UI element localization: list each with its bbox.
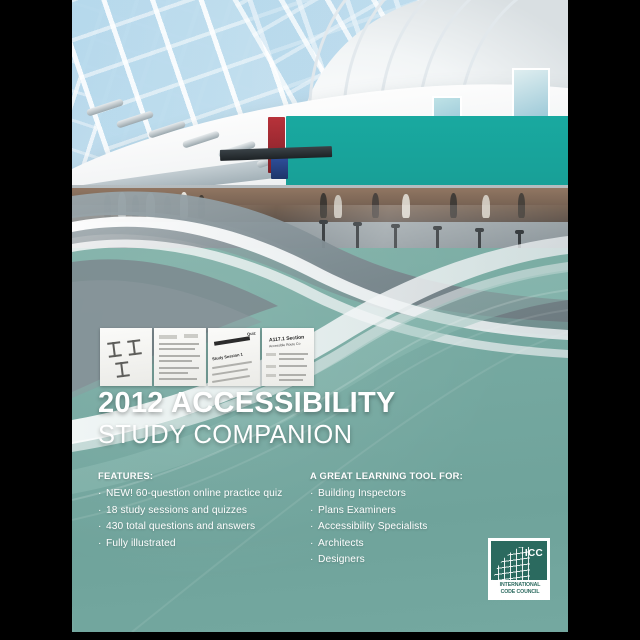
book-cover: Quiz Study Session 1 A117.1 Section Acce… xyxy=(72,0,568,632)
text-line xyxy=(279,374,306,376)
bullet-glyph: · xyxy=(310,536,318,553)
thumbnail-illustration-page[interactable] xyxy=(100,328,152,386)
ibeam-diagram xyxy=(115,361,130,377)
audience-item-label: Accessibility Specialists xyxy=(318,521,428,532)
features-item: ·NEW! 60-question online practice quiz xyxy=(98,486,310,503)
text-block xyxy=(266,365,276,368)
logo-mark: ICC xyxy=(525,548,543,559)
text-line xyxy=(279,353,308,355)
thumbnail-quiz-page[interactable]: Quiz Study Session 1 xyxy=(208,328,260,386)
text-line xyxy=(159,355,200,357)
audience-item-label: Building Inspectors xyxy=(318,488,406,499)
audience-item-label: Architects xyxy=(318,538,364,549)
text-line xyxy=(159,372,188,374)
text-line xyxy=(279,358,304,360)
title-line-2: STUDY COMPANION xyxy=(98,421,538,449)
bullet-glyph: · xyxy=(310,519,318,536)
features-item-label: NEW! 60-question online practice quiz xyxy=(106,488,282,499)
ibeam-diagram xyxy=(127,339,142,355)
text-line xyxy=(159,348,195,350)
cover-title: 2012 ACCESSIBILITY STUDY COMPANION xyxy=(98,388,538,449)
audience-item-label: Designers xyxy=(318,554,365,565)
features-column: FEATURES: ·NEW! 60-question online pract… xyxy=(98,470,310,569)
bullet-glyph: · xyxy=(98,519,106,536)
features-item: ·18 study sessions and quizzes xyxy=(98,503,310,520)
title-line-1: 2012 ACCESSIBILITY xyxy=(98,388,538,418)
features-item: ·430 total questions and answers xyxy=(98,519,310,536)
text-line xyxy=(279,379,303,381)
bullet-glyph: · xyxy=(98,486,106,503)
text-line xyxy=(159,360,192,362)
features-item: ·Fully illustrated xyxy=(98,536,310,553)
bullet-glyph: · xyxy=(98,503,106,520)
bullet-glyph: · xyxy=(310,552,318,569)
screenshot-stage: Quiz Study Session 1 A117.1 Section Acce… xyxy=(0,0,640,640)
bullet-glyph: · xyxy=(310,503,318,520)
cover-columns: FEATURES: ·NEW! 60-question online pract… xyxy=(98,470,538,569)
text-block xyxy=(184,334,198,338)
text-block xyxy=(159,335,177,339)
thumbnail-text-page[interactable] xyxy=(154,328,206,386)
logo-name-line-1: INTERNATIONAL xyxy=(492,582,547,588)
audience-item: ·Building Inspectors xyxy=(310,486,520,503)
features-item-label: 18 study sessions and quizzes xyxy=(106,505,247,516)
features-item-label: Fully illustrated xyxy=(106,538,176,549)
features-item-label: 430 total questions and answers xyxy=(106,521,255,532)
text-block xyxy=(266,374,276,377)
icc-logo[interactable]: ICC INTERNATIONAL CODE COUNCIL xyxy=(488,538,550,600)
logo-field: ICC INTERNATIONAL CODE COUNCIL xyxy=(491,541,547,597)
text-line xyxy=(279,365,307,367)
ibeam-diagram xyxy=(107,341,122,357)
features-heading: FEATURES: xyxy=(98,470,310,481)
audience-item: ·Plans Examiners xyxy=(310,503,520,520)
audience-item-label: Plans Examiners xyxy=(318,505,396,516)
page-sheet xyxy=(100,328,152,386)
bullet-glyph: · xyxy=(98,536,106,553)
sample-page-thumbnails: Quiz Study Session 1 A117.1 Section Acce… xyxy=(100,328,314,386)
logo-name-line-2: CODE COUNCIL xyxy=(492,589,547,595)
logo-name-band: INTERNATIONAL CODE COUNCIL xyxy=(491,580,547,597)
audience-item: ·Accessibility Specialists xyxy=(310,519,520,536)
text-line xyxy=(159,343,199,345)
text-block xyxy=(266,353,276,356)
bullet-glyph: · xyxy=(310,486,318,503)
text-line xyxy=(159,367,199,369)
text-line xyxy=(159,378,197,380)
thumbnail-code-section-page[interactable]: A117.1 Section Accessible Route Co xyxy=(262,328,314,386)
audience-heading: A GREAT LEARNING TOOL FOR: xyxy=(310,470,520,481)
